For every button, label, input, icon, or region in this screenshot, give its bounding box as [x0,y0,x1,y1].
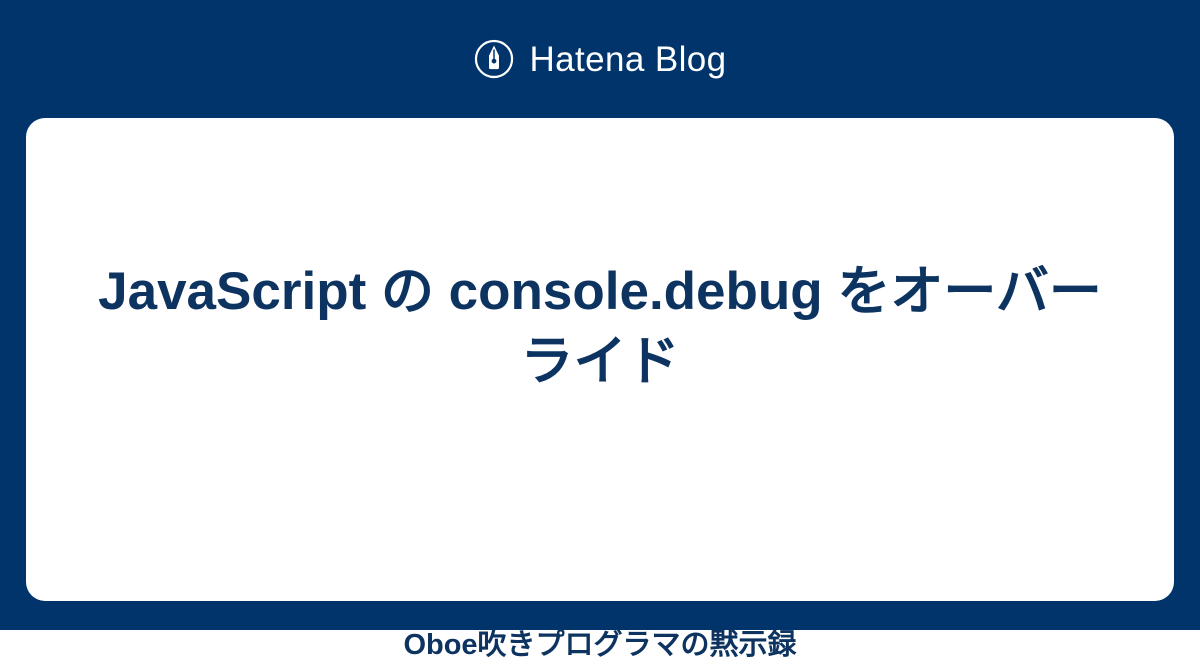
content-card: JavaScript の console.debug をオーバーライド Oboe… [26,118,1174,601]
entry-title: JavaScript の console.debug をオーバーライド [26,257,1174,397]
blog-title: Oboe吹きプログラマの黙示録 [26,627,1174,665]
hatena-blog-logo [473,38,515,80]
hatena-blog-og-card: Hatena Blog JavaScript の console.debug を… [0,0,1200,630]
brand-header: Hatena Blog [473,0,726,118]
brand-name-label: Hatena Blog [529,42,726,77]
fountain-pen-nib-circle-icon [473,38,515,80]
